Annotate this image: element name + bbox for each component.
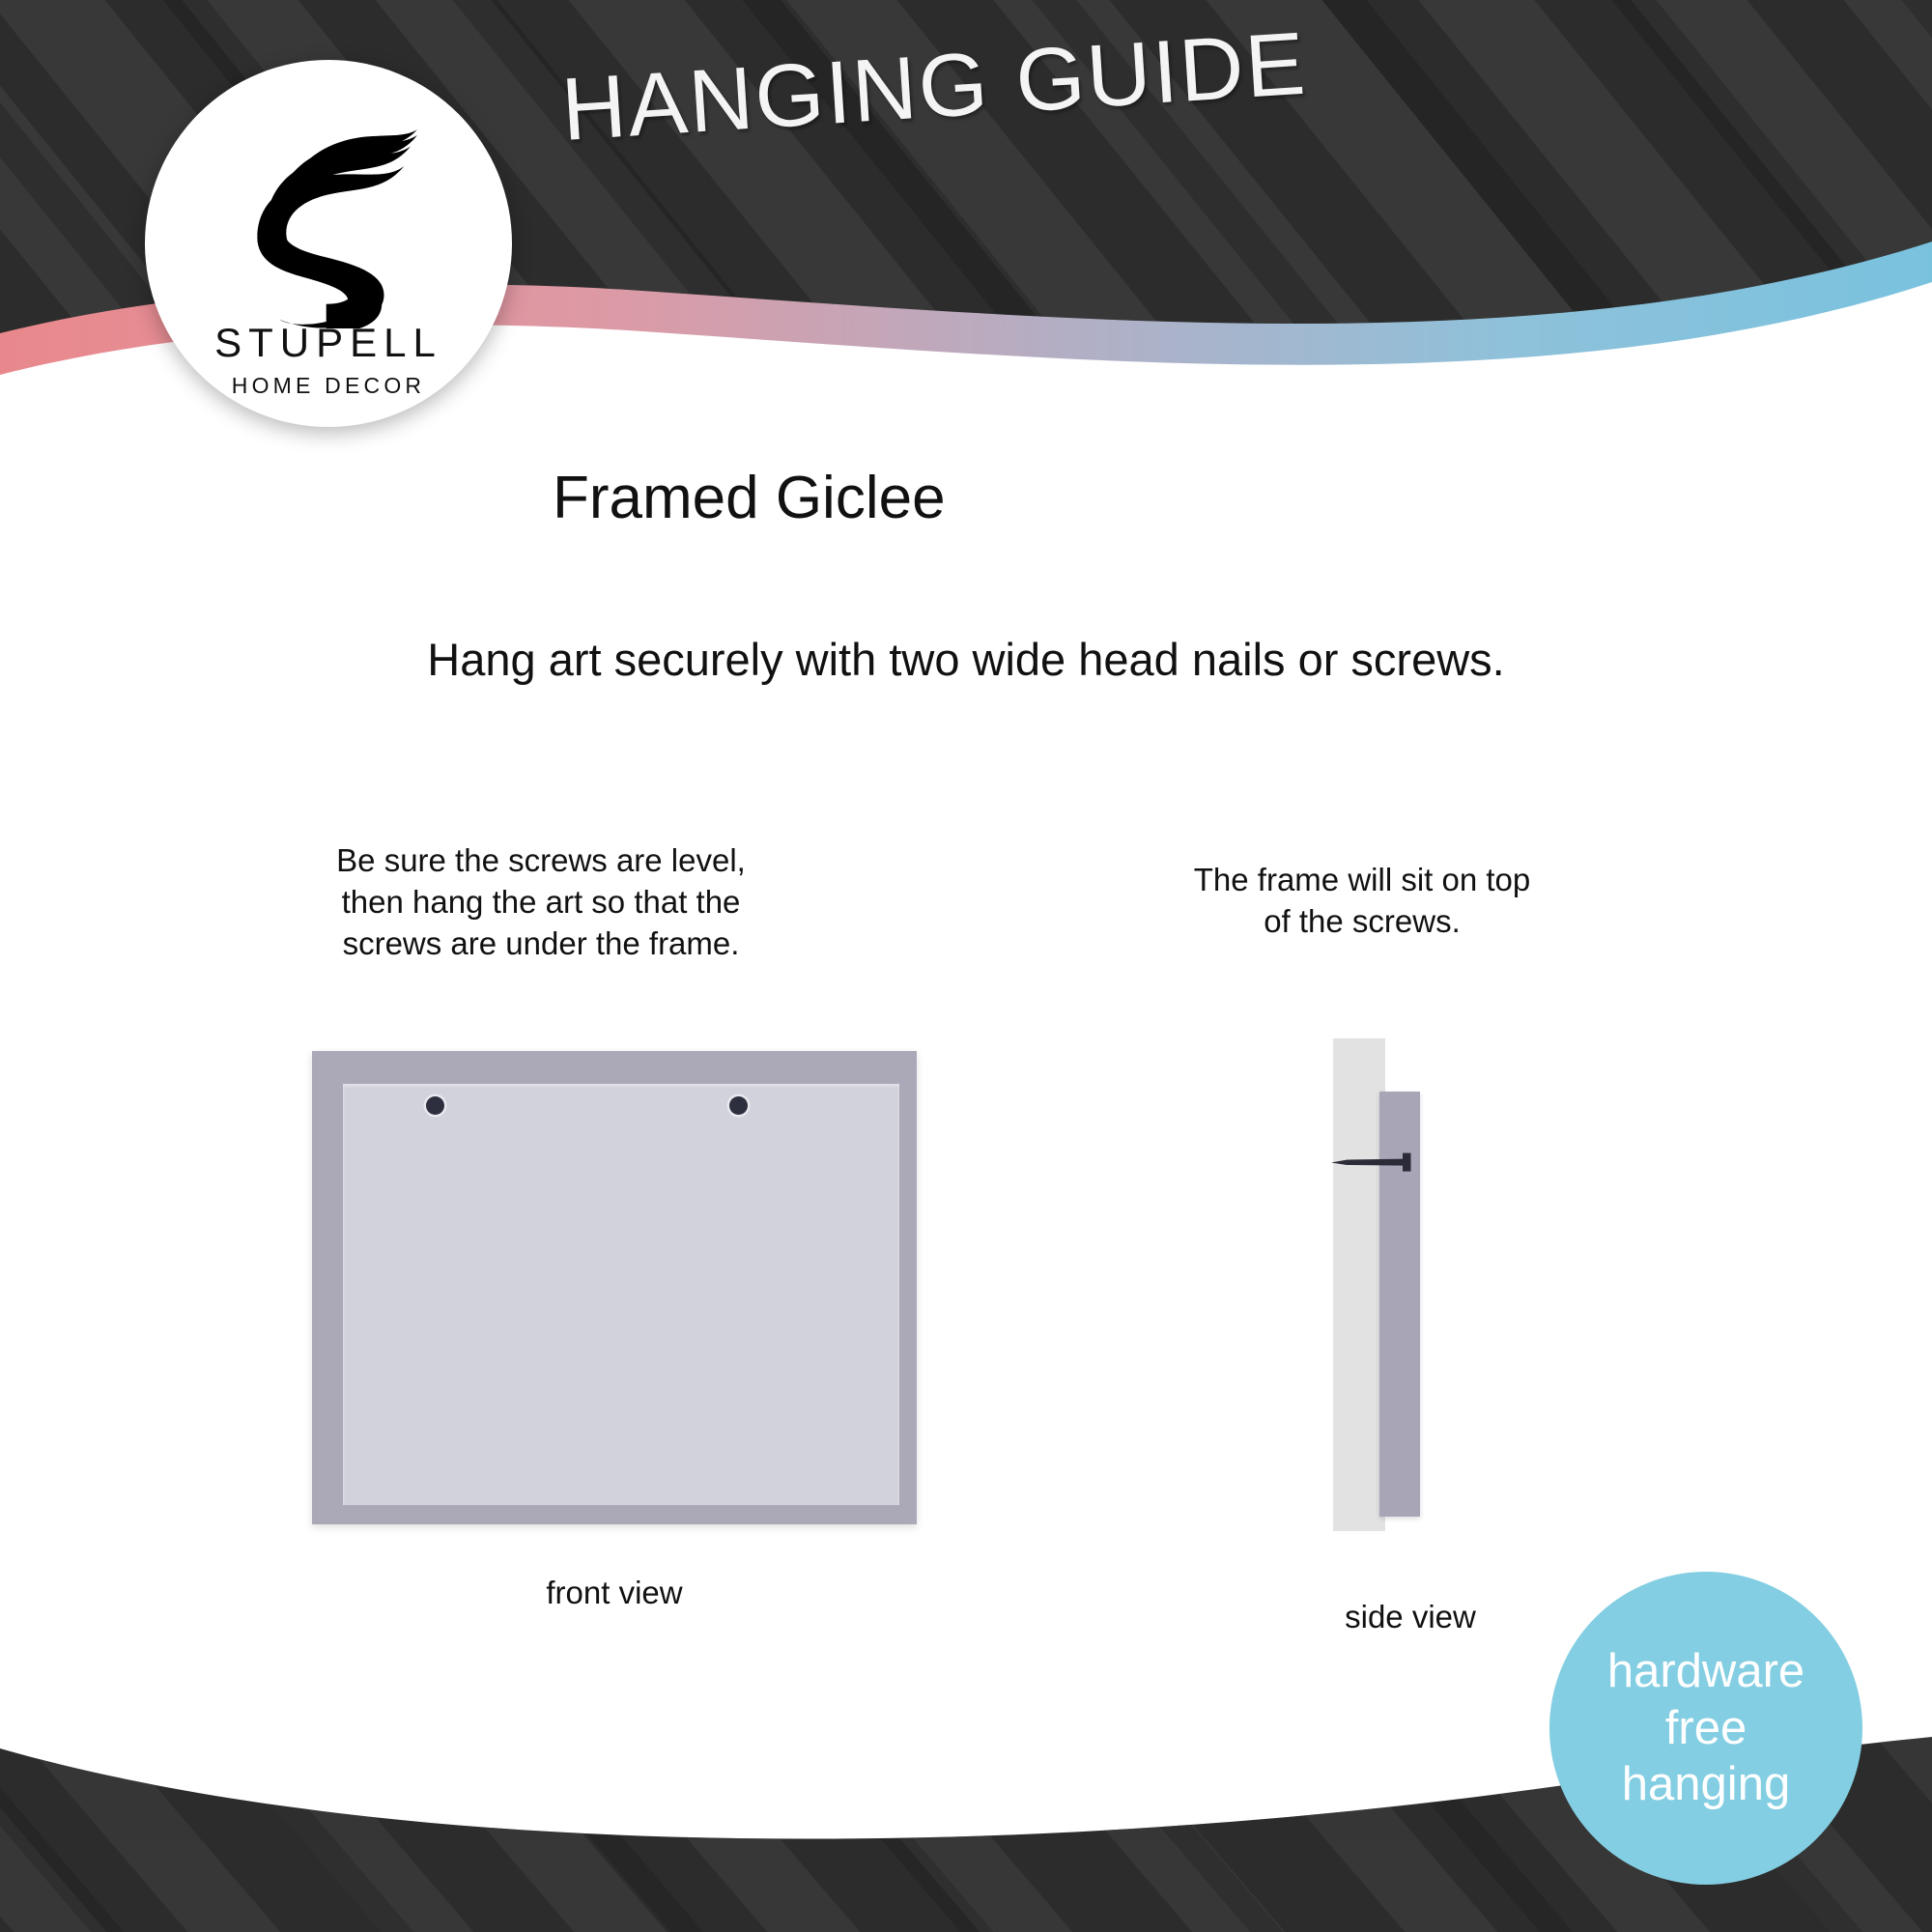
brand-tagline: HOME DECOR — [232, 375, 425, 397]
screw-dot-left — [426, 1096, 444, 1115]
brand-name: STUPELL — [214, 323, 442, 363]
product-title: Framed Giclee — [553, 464, 946, 532]
side-view-caption: The frame will sit on top of the screws. — [1101, 860, 1623, 943]
front-view-label: front view — [312, 1575, 917, 1611]
caption-line: screws are under the frame. — [241, 923, 840, 965]
caption-line: then hang the art so that the — [241, 882, 840, 923]
badge-line: hanging — [1622, 1756, 1790, 1813]
badge-line: hardware — [1607, 1643, 1804, 1700]
caption-line: The frame will sit on top — [1101, 860, 1623, 901]
frame-mat — [343, 1084, 899, 1505]
brand-logo-badge: STUPELL HOME DECOR — [145, 60, 512, 427]
screw-dot-right — [729, 1096, 748, 1115]
lead-instruction: Hang art securely with two wide head nai… — [0, 633, 1932, 686]
hanging-guide-page: HANGING GUIDE STUPELL HOME DECOR Framed … — [0, 0, 1932, 1932]
nail-icon — [1329, 1152, 1422, 1172]
caption-line: Be sure the screws are level, — [241, 840, 840, 882]
caption-line: of the screws. — [1101, 901, 1623, 943]
stupell-swoosh-logo-icon — [217, 106, 440, 328]
front-view-diagram — [312, 1051, 917, 1524]
side-view-diagram — [1333, 1038, 1459, 1531]
wall-surface — [1333, 1038, 1385, 1531]
front-view-caption: Be sure the screws are level, then hang … — [241, 840, 840, 965]
hardware-free-badge: hardware free hanging — [1549, 1572, 1862, 1885]
side-view-label: side view — [1236, 1599, 1584, 1635]
badge-line: free — [1665, 1700, 1747, 1757]
